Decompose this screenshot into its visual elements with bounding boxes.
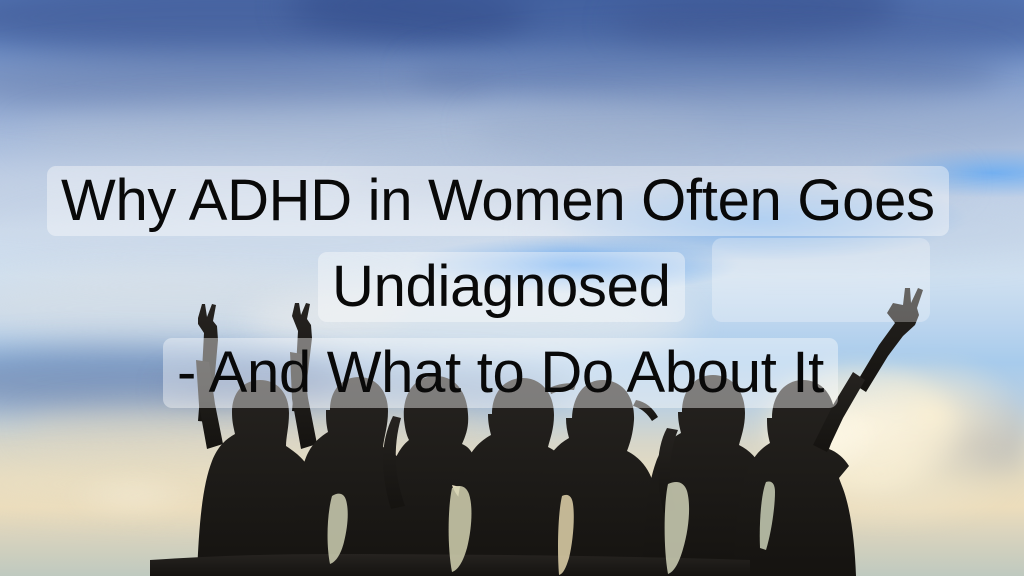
raised-arm-peace-right: [855, 288, 923, 392]
silhouette-shapes: [150, 288, 923, 576]
hero-banner: Why ADHD in Women Often Goes Undiagnosed…: [0, 0, 1024, 576]
title-line-2: Undiagnosed: [318, 252, 685, 322]
title-line-3: - And What to Do About It: [163, 338, 838, 408]
title-line-1: Why ADHD in Women Often Goes: [47, 166, 949, 236]
